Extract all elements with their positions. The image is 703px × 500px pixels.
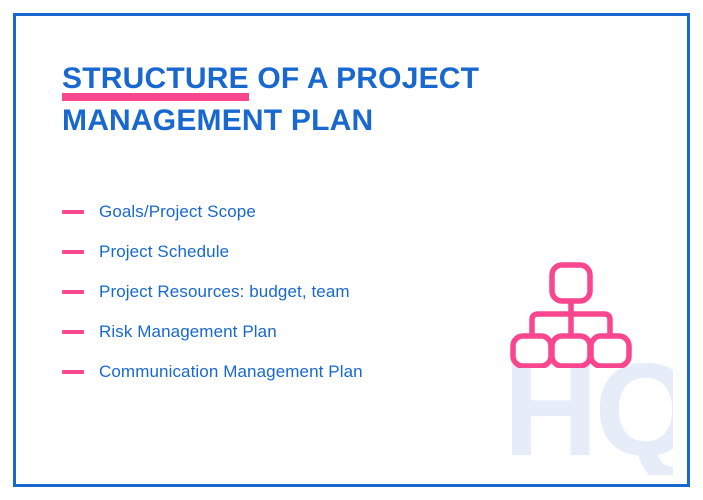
org-node-bottom-right [591,336,629,366]
list-item: Goals/Project Scope [62,192,462,232]
dash-bullet-icon [62,290,84,294]
org-chart-icon [505,258,640,368]
title-line-1-rest: OF A PROJECT [249,62,479,95]
list-item: Project Schedule [62,232,462,272]
list-item: Communication Management Plan [62,352,462,392]
list-item: Project Resources: budget, team [62,272,462,312]
title-line-1: STRUCTURE OF A PROJECT [62,58,482,100]
title-line-2: MANAGEMENT PLAN [62,100,482,142]
org-node-bottom-left [513,336,551,366]
list-item-label: Risk Management Plan [99,322,277,342]
dash-bullet-icon [62,330,84,334]
page-title: STRUCTURE OF A PROJECT MANAGEMENT PLAN [62,58,482,142]
slide: HQ STRUCTURE OF A PROJECT MANAGEMENT PLA… [0,0,703,500]
title-highlight-word: STRUCTURE [62,58,249,100]
org-node-bottom-middle [552,336,590,366]
list-item-label: Project Schedule [99,242,229,262]
list-item-label: Project Resources: budget, team [99,282,350,302]
org-node-top [552,265,590,301]
title-highlight-text: STRUCTURE [62,62,249,95]
list-item: Risk Management Plan [62,312,462,352]
dash-bullet-icon [62,250,84,254]
bullet-list: Goals/Project Scope Project Schedule Pro… [62,192,462,392]
list-item-label: Goals/Project Scope [99,202,256,222]
dash-bullet-icon [62,370,84,374]
list-item-label: Communication Management Plan [99,362,363,382]
org-chart-svg [505,258,640,368]
dash-bullet-icon [62,210,84,214]
